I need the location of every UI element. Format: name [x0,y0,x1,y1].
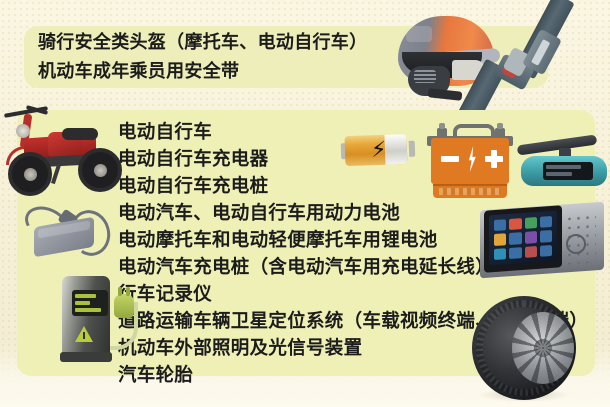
helmet-vent-icon [414,70,436,83]
charging-pile-base-icon [60,352,112,362]
battery-charger-photo [18,206,110,264]
car-battery-plus-symbol-v-icon [491,150,497,168]
battery-lightning-bolt-icon: ⚡ [371,138,396,161]
aa-battery-icon: ⚡ [340,130,415,173]
ebike-headlight-icon [16,124,30,138]
charging-pile-connector-icon [114,294,134,318]
battery-positive-cap-icon [409,141,416,157]
ebike-kickstand-icon [51,164,61,184]
car-battery-base-icon [433,184,507,198]
rearview-mirror-dashcam-photo [515,140,610,192]
panel-top-line-1: 骑行安全类头盔（摩托车、电动自行车） [38,28,367,57]
ebike-rear-wheel-icon [78,148,122,192]
tire-rim-spokes-icon [512,312,574,384]
mirror-screen-icon [543,162,593,180]
charging-pile-warning-icon [75,326,93,342]
helmet-chin-strap-icon [428,88,463,101]
panel-top-line-2: 机动车成年乘员用安全带 [38,57,367,86]
charging-pile-photo [58,272,144,368]
car-head-unit-photo [480,200,604,280]
head-unit-knob-icon [566,234,586,254]
car-battery-icon [425,122,517,204]
car-battery-minus-symbol-icon [441,156,459,162]
charging-pile-display-icon [72,290,108,316]
ebike-front-wheel-icon [8,152,52,196]
helmet-and-seatbelt-text-block: 骑行安全类头盔（摩托车、电动自行车） 机动车成年乘员用安全带 [38,28,367,86]
car-tire-photo [472,296,584,400]
head-unit-touchscreen-icon [489,211,557,266]
mirror-glass-icon [521,156,607,186]
ebike-seat-icon [62,128,98,140]
charging-pile-body-icon [62,276,110,360]
electric-bicycle-photo [2,102,124,198]
seat-belt-photo [495,2,607,114]
